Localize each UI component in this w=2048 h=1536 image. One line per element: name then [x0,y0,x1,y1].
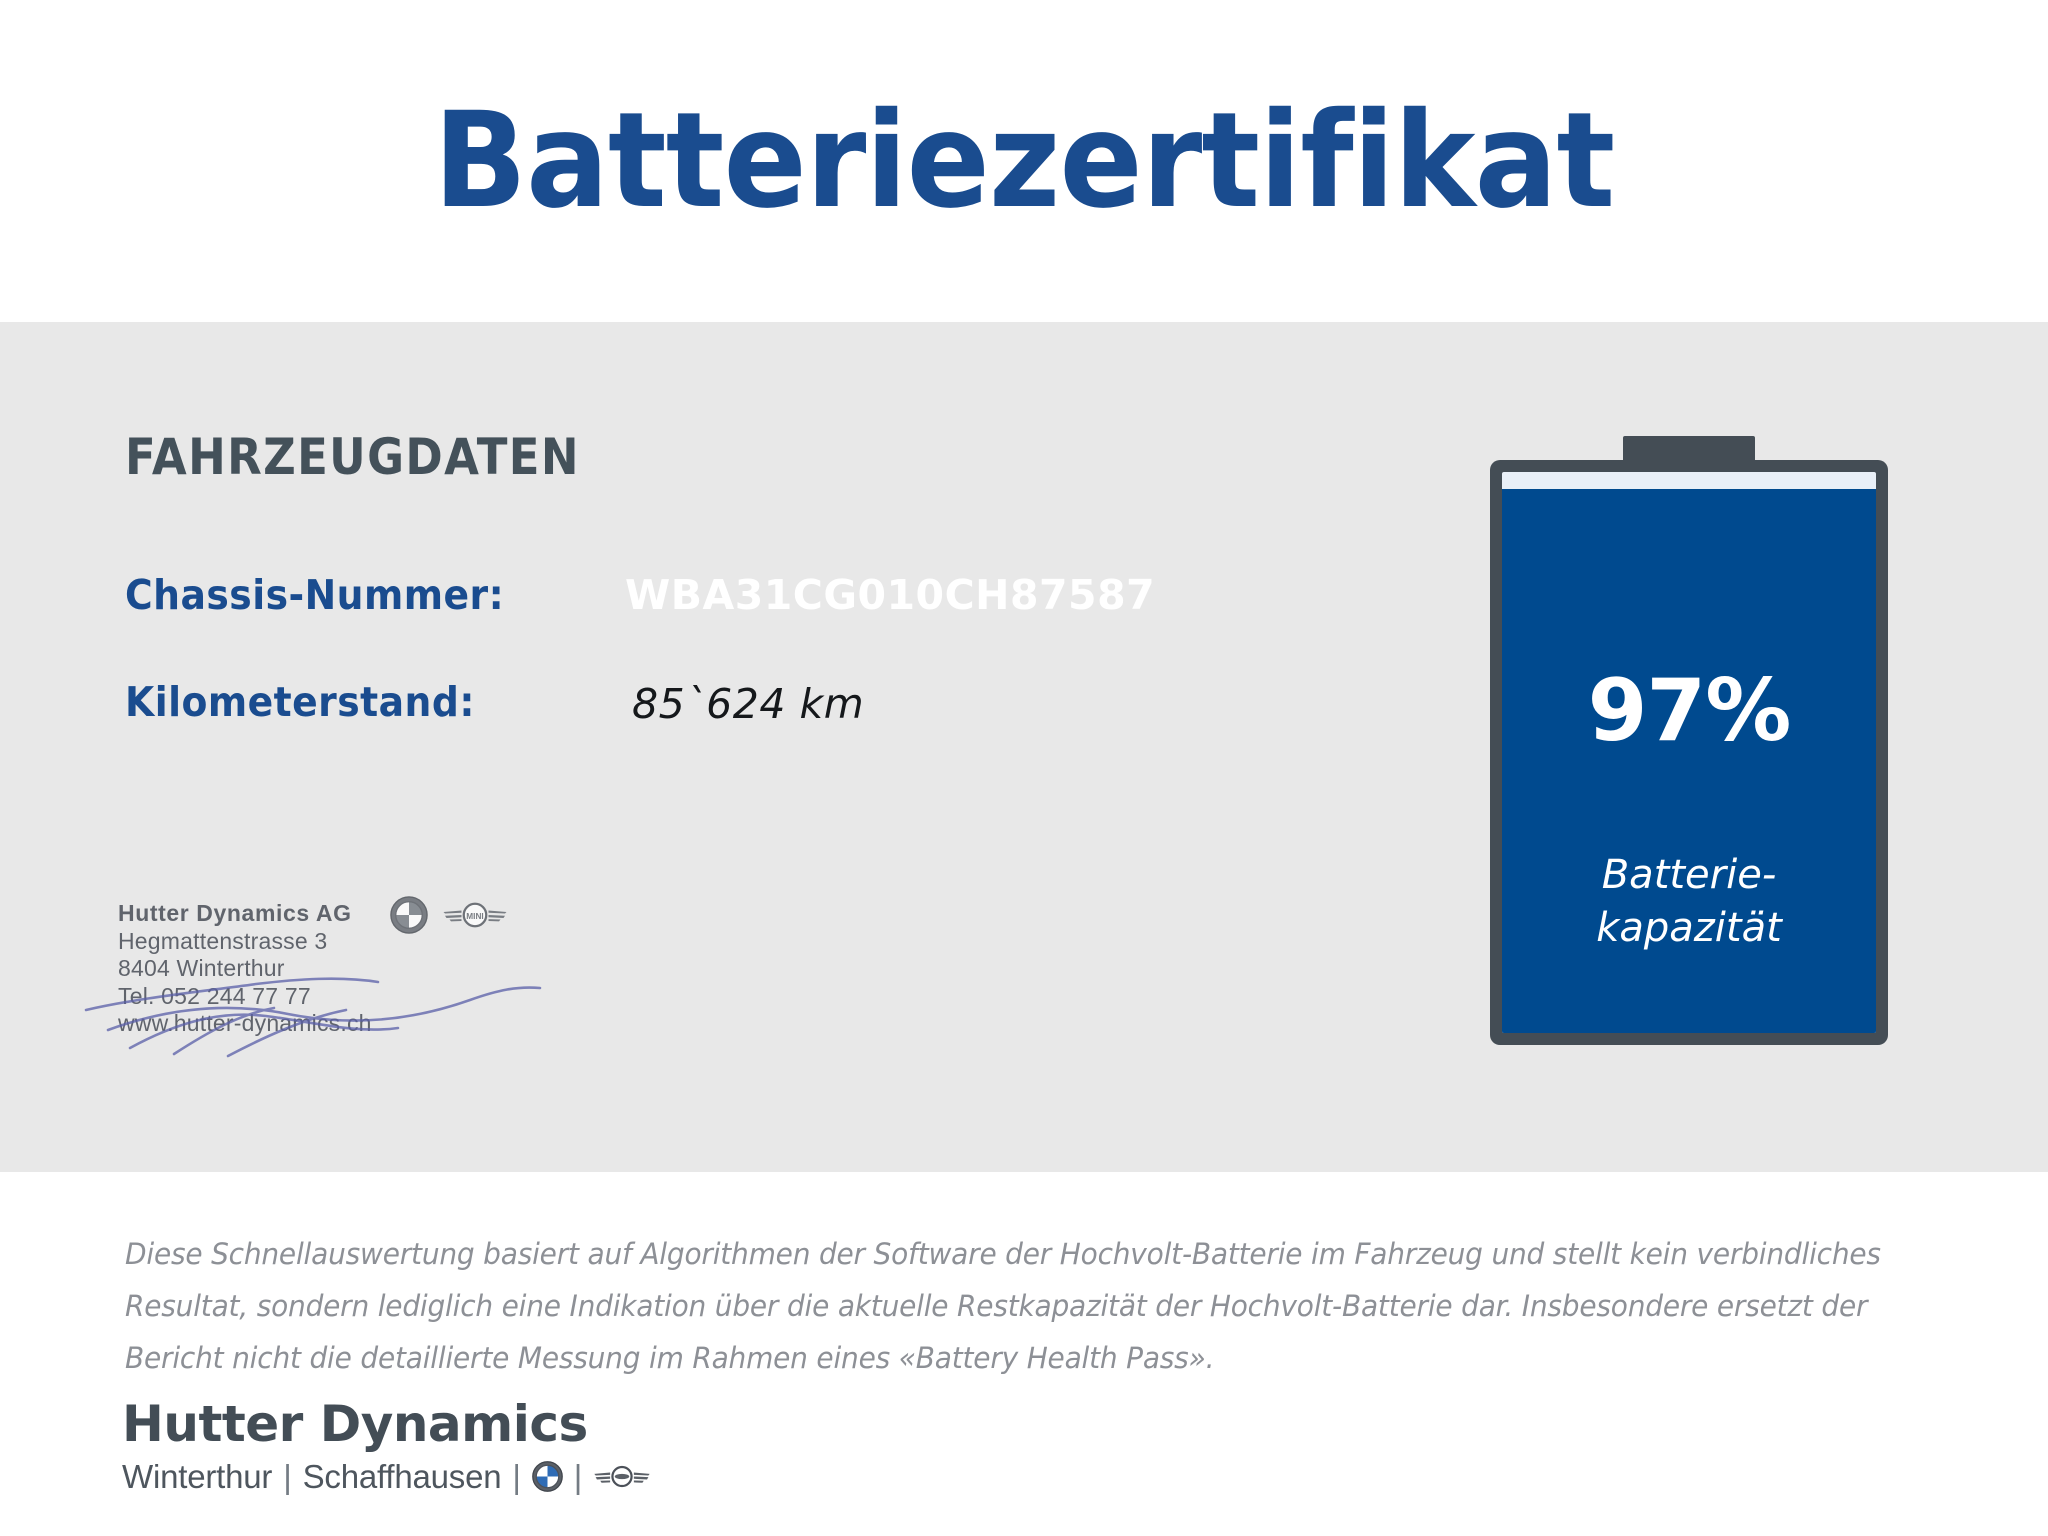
chassis-number-label: Chassis-Nummer: [125,571,465,619]
footer-separator-3: | [574,1458,582,1496]
battery-percent-label: 97% [1490,668,1888,754]
stamp-website: www.hutter-dynamics.ch [118,1010,372,1038]
chassis-number-value: WBA31CG010CH87587 [625,571,1155,619]
page-title: Batteriezertifikat [434,95,1615,227]
mini-logo: MINI [442,900,508,930]
battery-caption-line-2: kapazität [1490,902,1888,955]
battery-capacity-caption: Batterie- kapazität [1490,849,1888,955]
footer-company-name: Hutter Dynamics [122,1398,651,1451]
title-band: Batteriezertifikat [0,0,2048,322]
mini-logo [593,1463,651,1490]
stamp-address-block: Hutter Dynamics AG Hegmattenstrasse 3 84… [118,900,372,1038]
footer-separator-2: | [512,1458,520,1496]
stamp-phone: Tel. 052 244 77 77 [118,983,372,1011]
footer-location-schaffhausen: Schaffhausen [303,1458,502,1496]
battery-certificate-page: Batteriezertifikat FAHRZEUGDATEN Chassis… [0,0,2048,1536]
chassis-number-row: Chassis-Nummer: [125,571,495,619]
svg-text:MINI: MINI [466,912,483,921]
mileage-label: Kilometerstand: [125,678,465,726]
stamp-street: Hegmattenstrasse 3 [118,928,372,956]
mileage-value: 85`624 km [632,680,864,728]
mileage-row: Kilometerstand: [125,678,495,726]
battery-gauge: 97% Batterie- kapazität [1490,436,1888,1045]
bmw-logo [532,1461,563,1492]
footer-location-winterthur: Winterthur [122,1458,272,1496]
vehicle-data-heading: FAHRZEUGDATEN [125,428,580,486]
footer-separator-1: | [283,1458,291,1496]
disclaimer-text: Diese Schnellauswertung basiert auf Algo… [125,1228,1881,1384]
stamp-city: 8404 Winterthur [118,955,372,983]
stamp-brand-logos: MINI [390,896,508,934]
battery-caption-line-1: Batterie- [1490,849,1888,902]
footer-branding: Hutter Dynamics Winterthur | Schaffhause… [122,1398,651,1496]
bmw-logo [390,896,428,934]
footer-locations: Winterthur | Schaffhausen | | [122,1458,651,1496]
dealer-stamp: Hutter Dynamics AG Hegmattenstrasse 3 84… [118,900,588,1065]
stamp-company: Hutter Dynamics AG [118,900,372,928]
